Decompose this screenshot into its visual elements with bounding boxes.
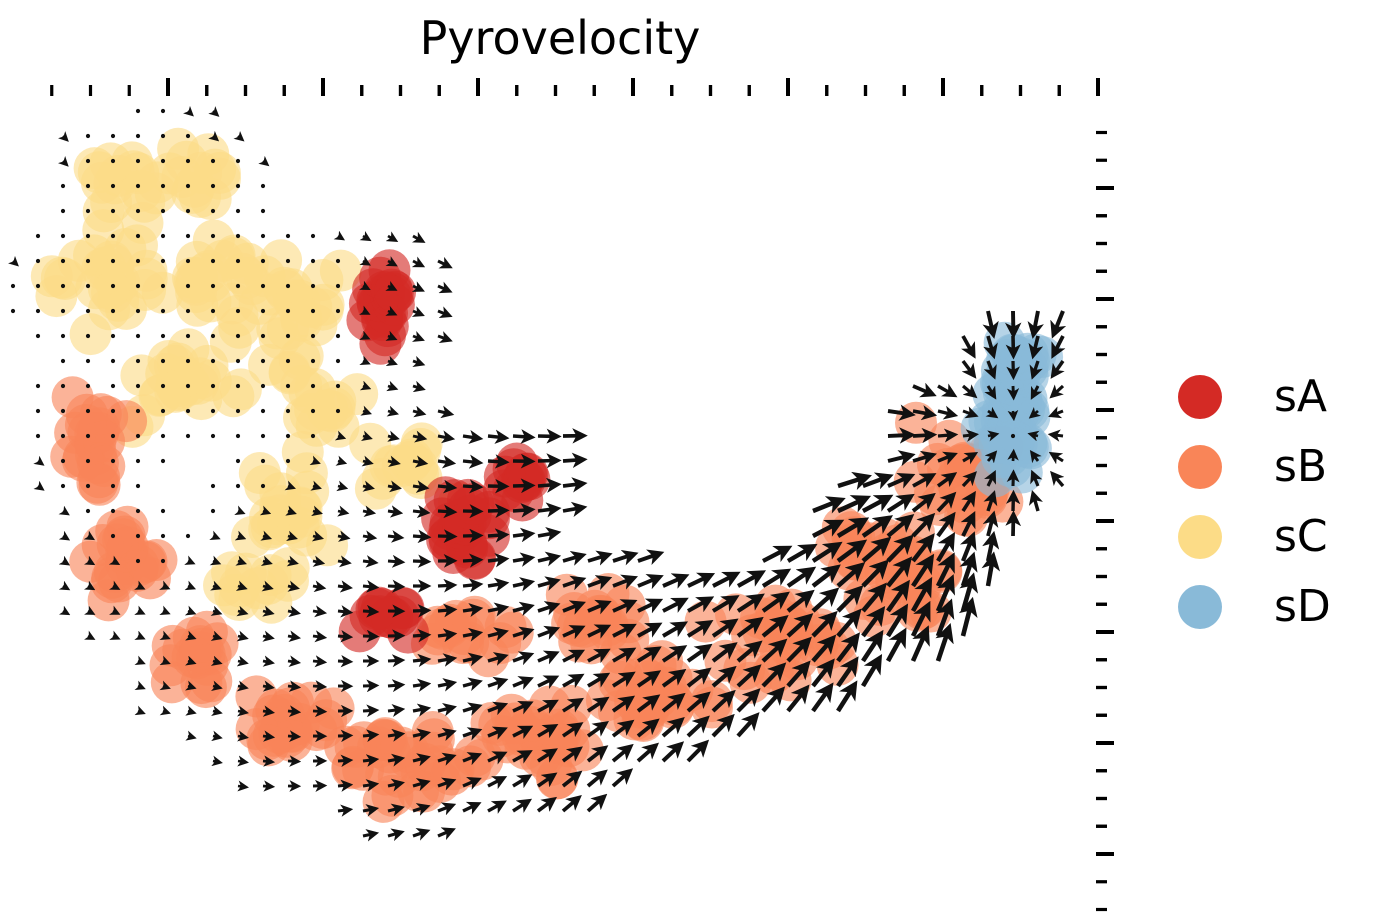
velocity-arrow <box>738 574 760 586</box>
velocity-arrow <box>488 559 504 561</box>
cell-marker <box>62 440 104 482</box>
velocity-arrow-stub <box>1011 434 1015 438</box>
velocity-arrow-stub <box>186 259 190 263</box>
velocity-arrow <box>463 560 478 561</box>
velocity-arrow <box>338 236 342 238</box>
velocity-arrow <box>538 461 556 462</box>
velocity-arrow <box>313 611 323 613</box>
velocity-arrow-stub <box>286 334 290 338</box>
velocity-arrow <box>213 736 219 737</box>
velocity-arrow <box>388 461 397 463</box>
velocity-arrow-stub <box>211 234 215 238</box>
velocity-arrow <box>238 686 245 688</box>
cell-marker <box>212 375 254 417</box>
velocity-arrow <box>363 735 375 736</box>
velocity-arrow <box>338 461 343 463</box>
velocity-arrow <box>1013 453 1014 461</box>
velocity-arrow <box>313 536 320 538</box>
velocity-arrow-stub <box>211 184 215 188</box>
velocity-arrow <box>1054 475 1064 486</box>
velocity-arrow-stub <box>261 459 265 463</box>
legend-swatch-icon-sA <box>1178 375 1222 419</box>
velocity-arrow-stub <box>61 309 65 313</box>
velocity-arrow <box>288 636 297 638</box>
velocity-arrow <box>838 477 865 486</box>
velocity-arrow-stub <box>311 309 315 313</box>
velocity-arrow-stub <box>311 259 315 263</box>
velocity-arrow-stub <box>186 334 190 338</box>
velocity-arrow <box>138 611 142 613</box>
velocity-arrow <box>363 561 374 562</box>
velocity-arrow-stub <box>111 259 115 263</box>
velocity-arrow-stub <box>136 484 140 488</box>
velocity-arrow-stub <box>261 259 265 263</box>
velocity-arrow <box>213 711 219 712</box>
velocity-arrow <box>788 547 812 561</box>
velocity-arrow-stub <box>136 109 140 113</box>
velocity-arrow-stub <box>186 209 190 213</box>
velocity-arrow <box>188 686 193 688</box>
legend-swatch-icon-sC <box>1178 515 1222 559</box>
velocity-arrow-stub <box>186 159 190 163</box>
velocity-arrow <box>513 486 530 487</box>
velocity-arrow <box>238 736 245 737</box>
velocity-arrow <box>688 720 705 736</box>
velocity-arrow <box>188 111 191 114</box>
legend-item-sC[interactable]: sC <box>1178 502 1378 572</box>
velocity-arrow <box>438 311 448 315</box>
velocity-arrow-stub <box>161 384 165 388</box>
velocity-arrow <box>863 660 878 686</box>
velocity-arrow-stub <box>111 184 115 188</box>
velocity-arrow <box>338 636 349 637</box>
velocity-arrow <box>163 586 167 588</box>
cell-marker <box>259 472 301 514</box>
velocity-arrow-stub <box>61 359 65 363</box>
velocity-arrow-stub <box>186 534 190 538</box>
velocity-arrow-stub <box>261 209 265 213</box>
velocity-arrow <box>613 772 629 786</box>
velocity-arrow <box>213 661 219 663</box>
velocity-arrow <box>313 486 318 488</box>
velocity-arrow <box>463 805 477 812</box>
legend-label-sB: sB <box>1274 445 1327 489</box>
velocity-arrow <box>363 834 374 836</box>
velocity-arrow <box>338 810 349 811</box>
velocity-arrow-stub <box>161 259 165 263</box>
velocity-arrow-stub <box>86 259 90 263</box>
velocity-arrow <box>338 561 347 563</box>
velocity-arrow <box>413 311 421 314</box>
velocity-arrow <box>988 537 993 561</box>
velocity-arrow <box>188 661 193 663</box>
velocity-arrow <box>988 516 993 536</box>
velocity-arrow-stub <box>36 284 40 288</box>
velocity-arrow-stub <box>86 159 90 163</box>
cell-marker <box>70 313 112 355</box>
velocity-arrow <box>238 636 245 638</box>
velocity-arrow-stub <box>236 234 240 238</box>
velocity-arrow-stub <box>136 359 140 363</box>
velocity-arrow-stub <box>211 484 215 488</box>
velocity-arrow-stub <box>336 384 340 388</box>
velocity-arrow <box>1053 411 1063 415</box>
velocity-arrow-stub <box>261 309 265 313</box>
cluster-legend: sA sB sC sD <box>1178 362 1378 642</box>
velocity-arrow-stub <box>211 334 215 338</box>
velocity-arrow <box>963 336 973 354</box>
velocity-arrow-stub <box>161 534 165 538</box>
velocity-arrow <box>288 486 292 488</box>
velocity-arrow <box>63 561 67 563</box>
legend-swatch-icon-sB <box>1178 445 1222 489</box>
velocity-arrow-stub <box>136 384 140 388</box>
velocity-arrow-stub <box>211 409 215 413</box>
velocity-arrow <box>438 806 451 811</box>
velocity-arrow <box>363 486 371 488</box>
velocity-arrow <box>363 411 368 413</box>
velocity-arrow-stub <box>236 434 240 438</box>
cell-marker <box>218 307 260 349</box>
velocity-arrow <box>413 561 426 562</box>
velocity-arrow-stub <box>161 234 165 238</box>
velocity-arrow-stub <box>211 359 215 363</box>
velocity-arrow <box>263 661 271 663</box>
velocity-arrow-stub <box>111 384 115 388</box>
cell-marker <box>41 257 83 299</box>
velocity-arrow <box>288 511 293 513</box>
velocity-arrow <box>938 435 953 436</box>
velocity-arrow <box>138 636 142 638</box>
velocity-arrow <box>63 136 66 139</box>
velocity-arrow <box>188 736 193 737</box>
velocity-arrow-stub <box>136 559 140 563</box>
velocity-arrow <box>188 561 192 563</box>
velocity-arrow <box>488 681 503 686</box>
velocity-arrow <box>938 411 953 415</box>
velocity-arrow <box>413 709 426 711</box>
velocity-arrow <box>938 386 953 394</box>
velocity-arrow <box>463 609 478 611</box>
velocity-arrow-stub <box>186 284 190 288</box>
cell-marker <box>157 343 199 385</box>
velocity-arrow <box>388 734 400 736</box>
velocity-arrow-stub <box>86 134 90 138</box>
velocity-arrow <box>388 486 397 488</box>
velocity-arrow-stub <box>86 459 90 463</box>
cell-marker <box>380 727 422 769</box>
velocity-arrow-stub <box>286 309 290 313</box>
velocity-arrow-stub <box>211 384 215 388</box>
velocity-arrow <box>838 687 854 712</box>
velocity-arrow <box>388 685 400 686</box>
velocity-arrow <box>788 571 810 586</box>
legend-item-sB[interactable]: sB <box>1178 432 1378 502</box>
velocity-arrow-stub <box>36 434 40 438</box>
velocity-arrow-stub <box>111 359 115 363</box>
velocity-arrow-stub <box>186 359 190 363</box>
velocity-arrow-stub <box>161 284 165 288</box>
cell-marker <box>373 284 415 326</box>
velocity-arrow-stub <box>136 234 140 238</box>
velocity-arrow <box>288 736 297 737</box>
velocity-arrow-stub <box>236 159 240 163</box>
velocity-arrow <box>213 636 219 638</box>
velocity-arrow-stub <box>86 284 90 288</box>
velocity-arrow-stub <box>261 184 265 188</box>
velocity-arrow <box>888 634 903 661</box>
velocity-arrow-stub <box>111 459 115 463</box>
velocity-arrow <box>513 558 530 561</box>
velocity-arrow <box>363 511 372 513</box>
velocity-arrow <box>613 748 629 761</box>
velocity-arrow-stub <box>11 309 15 313</box>
cell-marker <box>450 495 492 537</box>
velocity-arrow-stub <box>211 259 215 263</box>
velocity-arrow <box>888 435 910 436</box>
velocity-arrow-stub <box>336 334 340 338</box>
velocity-arrow-stub <box>86 484 90 488</box>
velocity-arrow <box>263 511 268 513</box>
velocity-arrow <box>813 592 834 611</box>
velocity-arrow-stub <box>211 209 215 213</box>
velocity-arrow <box>263 736 271 737</box>
velocity-arrow <box>338 661 349 662</box>
velocity-arrow <box>438 830 451 836</box>
velocity-arrow <box>413 386 422 389</box>
velocity-arrow <box>413 511 426 512</box>
velocity-arrow <box>538 678 554 686</box>
velocity-arrow <box>413 236 422 241</box>
velocity-arrow-stub <box>36 409 40 413</box>
velocity-arrow-stub <box>136 284 140 288</box>
velocity-arrow <box>238 611 245 613</box>
velocity-arrow <box>413 536 426 537</box>
velocity-arrow-stub <box>86 334 90 338</box>
velocity-arrow-stub <box>161 359 165 363</box>
velocity-arrow <box>563 677 579 686</box>
velocity-arrow-stub <box>111 409 115 413</box>
velocity-arrow <box>138 711 142 713</box>
velocity-arrow-stub <box>136 184 140 188</box>
velocity-arrow-stub <box>261 334 265 338</box>
velocity-arrow <box>63 586 67 588</box>
velocity-arrow-stub <box>11 284 15 288</box>
velocity-arrow-stub <box>136 134 140 138</box>
velocity-arrow <box>488 779 502 786</box>
velocity-arrow <box>963 386 974 395</box>
velocity-arrow <box>513 607 529 612</box>
velocity-arrow <box>813 688 829 711</box>
velocity-arrow-stub <box>61 409 65 413</box>
velocity-arrow <box>213 586 218 588</box>
velocity-arrow-stub <box>61 384 65 388</box>
velocity-arrow <box>438 461 451 463</box>
velocity-arrow <box>338 536 346 538</box>
velocity-arrow <box>463 584 478 586</box>
velocity-arrow <box>363 386 368 388</box>
velocity-arrow-stub <box>286 259 290 263</box>
velocity-arrow <box>238 661 245 663</box>
cell-marker <box>175 264 217 306</box>
velocity-arrow <box>588 555 607 561</box>
velocity-arrow <box>263 636 271 638</box>
velocity-arrow-stub <box>211 309 215 313</box>
velocity-arrow <box>388 511 399 513</box>
velocity-arrow-stub <box>286 359 290 363</box>
velocity-arrow <box>438 336 448 340</box>
velocity-arrow-stub <box>186 184 190 188</box>
velocity-arrow <box>663 746 679 761</box>
velocity-arrow <box>138 661 142 663</box>
cell-marker <box>401 422 443 464</box>
velocity-arrow <box>388 236 395 240</box>
velocity-arrow <box>263 761 271 762</box>
velocity-arrow <box>1052 435 1063 436</box>
velocity-arrow-stub <box>236 184 240 188</box>
velocity-arrow <box>313 511 319 513</box>
velocity-arrow-stub <box>336 284 340 288</box>
velocity-arrow <box>538 509 556 511</box>
velocity-arrow <box>513 802 527 811</box>
pyrovelocity-figure: Pyrovelocity sA sB sC sD <box>0 0 1394 923</box>
velocity-arrow <box>513 510 530 511</box>
velocity-arrow <box>263 536 268 538</box>
velocity-arrow <box>488 583 504 586</box>
velocity-arrow-stub <box>236 259 240 263</box>
velocity-arrow-stub <box>86 209 90 213</box>
velocity-arrow <box>663 601 683 611</box>
velocity-arrow <box>513 777 528 786</box>
velocity-arrow-stub <box>161 509 165 513</box>
velocity-arrow-stub <box>186 434 190 438</box>
velocity-arrow-stub <box>236 334 240 338</box>
velocity-arrow <box>413 635 426 636</box>
velocity-arrow-stub <box>236 409 240 413</box>
velocity-arrow <box>238 761 245 762</box>
velocity-arrow <box>263 561 269 563</box>
velocity-arrow <box>363 236 368 239</box>
velocity-arrow <box>388 536 400 537</box>
velocity-arrow <box>738 717 755 736</box>
velocity-arrow-stub <box>86 359 90 363</box>
velocity-arrow-stub <box>111 484 115 488</box>
velocity-arrow-stub <box>311 284 315 288</box>
cell-marker <box>279 338 321 380</box>
velocity-arrow <box>688 744 705 761</box>
velocity-arrow <box>438 634 452 636</box>
velocity-arrow <box>438 411 450 414</box>
velocity-arrow <box>538 800 552 811</box>
velocity-arrow <box>188 586 192 588</box>
velocity-arrow <box>363 336 367 338</box>
velocity-arrow-stub <box>86 384 90 388</box>
velocity-arrow <box>513 680 529 687</box>
velocity-arrow-stub <box>36 259 40 263</box>
velocity-arrow <box>538 485 556 486</box>
velocity-arrow <box>463 486 478 487</box>
velocity-arrow <box>563 799 577 811</box>
velocity-arrow <box>488 461 504 462</box>
velocity-arrow <box>388 561 400 562</box>
velocity-arrow <box>388 386 394 388</box>
velocity-arrow <box>888 498 909 512</box>
velocity-arrow <box>488 803 502 811</box>
velocity-arrow-stub <box>111 134 115 138</box>
velocity-arrow <box>413 336 421 339</box>
velocity-arrow-stub <box>161 309 165 313</box>
velocity-arrow <box>288 711 297 712</box>
velocity-arrow-stub <box>186 384 190 388</box>
velocity-arrow <box>263 786 271 787</box>
velocity-arrow-stub <box>286 284 290 288</box>
velocity-arrow <box>363 809 374 811</box>
velocity-arrow <box>388 586 400 587</box>
velocity-arrow <box>538 557 556 561</box>
velocity-arrow <box>863 477 887 486</box>
velocity-arrow <box>638 578 658 586</box>
velocity-arrow <box>338 611 349 612</box>
velocity-arrow-stub <box>161 409 165 413</box>
velocity-arrow-stub <box>61 434 65 438</box>
velocity-arrow <box>188 611 193 613</box>
cell-marker <box>265 270 307 312</box>
velocity-arrow-stub <box>111 534 115 538</box>
velocity-arrow-stub <box>111 159 115 163</box>
cell-marker <box>97 524 139 566</box>
velocity-arrow <box>163 711 167 712</box>
legend-label-sD: sD <box>1274 585 1331 629</box>
velocity-arrow <box>988 558 993 586</box>
velocity-arrow <box>388 411 395 413</box>
velocity-arrow-stub <box>61 334 65 338</box>
velocity-arrow-stub <box>261 234 265 238</box>
velocity-arrow <box>438 683 452 686</box>
velocity-arrow-stub <box>136 409 140 413</box>
velocity-arrow <box>338 486 344 488</box>
legend-item-sD[interactable]: sD <box>1178 572 1378 642</box>
velocity-arrow <box>238 561 243 563</box>
velocity-arrow-stub <box>86 434 90 438</box>
velocity-arrow <box>438 511 452 512</box>
velocity-arrow <box>438 610 452 611</box>
velocity-arrow-stub <box>136 259 140 263</box>
velocity-arrow <box>338 760 349 761</box>
velocity-arrow-stub <box>136 434 140 438</box>
velocity-arrow-stub <box>236 384 240 388</box>
legend-label-sA: sA <box>1274 375 1327 419</box>
velocity-arrow <box>263 161 266 164</box>
velocity-arrow <box>163 636 167 638</box>
velocity-arrow-stub <box>111 234 115 238</box>
velocity-arrow-stub <box>311 409 315 413</box>
velocity-arrow <box>588 773 603 786</box>
velocity-arrow-stub <box>311 384 315 388</box>
velocity-arrow-stub <box>36 234 40 238</box>
velocity-arrow <box>138 686 142 688</box>
velocity-arrow <box>388 710 400 712</box>
velocity-arrow <box>238 786 245 787</box>
velocity-arrow <box>413 486 425 488</box>
velocity-arrow <box>488 535 504 536</box>
velocity-arrow <box>763 572 785 586</box>
velocity-arrow <box>613 555 633 561</box>
velocity-arrow-stub <box>286 434 290 438</box>
velocity-arrow <box>588 798 603 811</box>
velocity-arrow <box>463 436 478 438</box>
legend-item-sA[interactable]: sA <box>1178 362 1378 432</box>
velocity-arrow <box>313 636 323 637</box>
